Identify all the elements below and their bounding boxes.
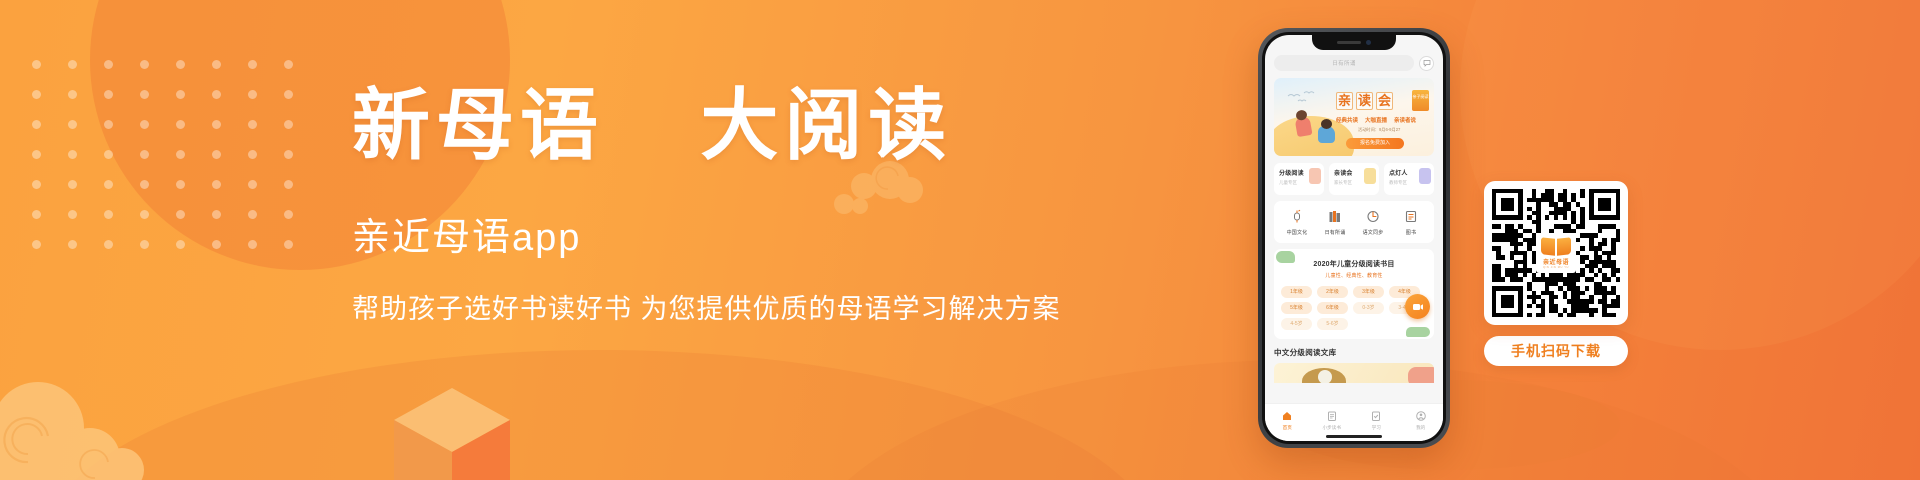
library-preview-strip[interactable] — [1274, 363, 1434, 383]
circle-arrow-icon — [1356, 209, 1390, 225]
home-indicator — [1326, 435, 1382, 438]
promo-banner: 新母语 大阅读 亲近母语app 帮助孩子选好书读好书 为您提供优质的母语学习解决… — [0, 0, 1920, 480]
home-icon — [1267, 409, 1307, 423]
quick-icon-label: 中国文化 — [1280, 229, 1314, 236]
tab-label: 我的 — [1401, 425, 1441, 431]
quick-icon-chinese-culture[interactable]: 中国文化 — [1280, 209, 1314, 236]
tab-home[interactable]: 首页 — [1267, 409, 1307, 431]
logo-pinyin: QIN JIN MU YU — [1543, 266, 1569, 269]
booklist-subtitle: 儿童性、经典性、教育性 — [1281, 272, 1427, 279]
hero-title-char-1: 亲 — [1336, 92, 1353, 110]
grade-chip[interactable]: 1年级 — [1281, 286, 1312, 298]
cube-decoration-icon — [392, 370, 512, 480]
decorative-dot-grid — [32, 60, 320, 270]
download-button[interactable]: 手机扫码下载 — [1484, 336, 1628, 366]
grade-chip[interactable]: 6年级 — [1317, 302, 1348, 314]
hero-subitem-3: 亲读者说 — [1394, 116, 1416, 124]
grade-chip[interactable]: 3年级 — [1353, 286, 1384, 298]
page-title: 新母语 大阅读 — [352, 84, 1072, 168]
user-icon — [1401, 409, 1441, 423]
hero-title-char-2: 读 — [1356, 92, 1373, 110]
headline-part-1: 新母语 — [352, 80, 604, 171]
hero-title-char-3: 会 — [1376, 92, 1393, 110]
quick-icon-books[interactable]: 图书 — [1394, 209, 1428, 236]
tab-label: 学习 — [1356, 425, 1396, 431]
hero-subitem-1: 经典共读 — [1336, 116, 1358, 124]
leaf-decoration-icon — [1276, 251, 1295, 263]
books-icon — [1318, 209, 1352, 225]
hero-subitem-2: 大咖直播 — [1365, 116, 1387, 124]
grade-chip[interactable]: 5年级 — [1281, 302, 1312, 314]
category-cards: 分级阅读 儿童专区 亲读会 家长专区 点灯人 教师专区 — [1274, 163, 1434, 195]
booklist-title: 2020年儿童分级阅读书目 — [1281, 259, 1427, 269]
lantern-icon — [1280, 209, 1314, 225]
phone-screen: 日有所诵 — [1265, 35, 1443, 441]
hero-badge: 亲子阅读 — [1412, 90, 1429, 111]
cloud-decoration-icon — [0, 370, 180, 480]
age-chip[interactable]: 0-3岁 — [1353, 302, 1384, 314]
app-content: 日有所诵 — [1265, 35, 1443, 383]
phone-mockup: 日有所诵 — [1258, 28, 1450, 448]
clipboard-icon — [1356, 409, 1396, 423]
tab-profile[interactable]: 我的 — [1401, 409, 1441, 431]
open-book-logo-icon — [1541, 238, 1571, 255]
banner-copy: 新母语 大阅读 亲近母语app 帮助孩子选好书读好书 为您提供优质的母语学习解决… — [352, 84, 1072, 327]
library-shape-3 — [1408, 367, 1434, 383]
logo-name: 亲近母语 — [1543, 257, 1569, 266]
tagline: 帮助孩子选好书读好书 为您提供优质的母语学习解决方案 — [352, 292, 1072, 327]
hero-banner-card[interactable]: 亲 读 会 亲子阅读 经典共读 大咖直播 亲读者说 活动时间：9月6-9月27 … — [1274, 78, 1434, 156]
video-play-icon[interactable] — [1405, 294, 1430, 319]
decorative-arc-bottom — [40, 350, 1160, 480]
earpiece-speaker — [1337, 41, 1361, 44]
quick-icon-row: 中国文化 日有所诵 语文同步 — [1274, 201, 1434, 243]
age-chip[interactable]: 5-6岁 — [1317, 318, 1348, 330]
app-name-subtitle: 亲近母语app — [352, 216, 1072, 262]
hero-join-button[interactable]: 报名免费加入 — [1346, 138, 1404, 149]
library-section-title: 中文分级阅读文库 — [1274, 347, 1434, 358]
app-search-row: 日有所诵 — [1274, 55, 1434, 71]
phone-bezel: 日有所诵 — [1262, 32, 1446, 444]
leaf-decoration-icon — [1406, 327, 1430, 337]
front-camera — [1366, 40, 1371, 45]
logo-right-page — [1557, 237, 1571, 255]
tab-label: 小步读书 — [1312, 425, 1352, 431]
reading-icon — [1312, 409, 1352, 423]
message-icon[interactable] — [1419, 56, 1434, 71]
brand-logo: 亲近母语 QIN JIN MU YU — [1536, 233, 1576, 273]
age-chip[interactable]: 4-5岁 — [1281, 318, 1312, 330]
quick-icon-label: 日有所诵 — [1318, 229, 1352, 236]
booklist-card: 2020年儿童分级阅读书目 儿童性、经典性、教育性 1年级 2年级 3年级 4年… — [1274, 249, 1434, 339]
hero-child-2 — [1318, 126, 1335, 143]
category-card-parent-club[interactable]: 亲读会 家长专区 — [1329, 163, 1379, 195]
quick-icon-daily-recitation[interactable]: 日有所诵 — [1318, 209, 1352, 236]
birds-icon — [1286, 90, 1320, 104]
tab-reading[interactable]: 小步读书 — [1312, 409, 1352, 431]
category-card-graded-reading[interactable]: 分级阅读 儿童专区 — [1274, 163, 1324, 195]
book-icon — [1394, 209, 1428, 225]
logo-left-page — [1541, 237, 1555, 255]
qr-code[interactable]: 亲近母语 QIN JIN MU YU — [1484, 181, 1628, 325]
phone-notch — [1312, 35, 1396, 50]
headline-part-2: 大阅读 — [700, 80, 952, 171]
tab-label: 首页 — [1267, 425, 1307, 431]
quick-icon-label: 图书 — [1394, 229, 1428, 236]
qr-block: 亲近母语 QIN JIN MU YU 手机扫码下载 — [1484, 181, 1628, 366]
category-card-teacher[interactable]: 点灯人 教师专区 — [1384, 163, 1434, 195]
quick-icon-label: 语文同步 — [1356, 229, 1390, 236]
quick-icon-textbook-sync[interactable]: 语文同步 — [1356, 209, 1390, 236]
hero-subitems: 经典共读 大咖直播 亲读者说 — [1336, 116, 1416, 124]
grade-chip[interactable]: 2年级 — [1317, 286, 1348, 298]
card-decoration — [1419, 168, 1431, 184]
hero-title: 亲 读 会 — [1336, 92, 1393, 110]
search-input[interactable]: 日有所诵 — [1274, 55, 1414, 71]
hero-date: 活动时间：9月6-9月27 — [1358, 127, 1400, 133]
tab-study[interactable]: 学习 — [1356, 409, 1396, 431]
library-shape-2 — [1318, 370, 1332, 383]
search-placeholder: 日有所诵 — [1332, 59, 1356, 67]
card-decoration — [1309, 168, 1321, 184]
card-decoration — [1364, 168, 1376, 184]
